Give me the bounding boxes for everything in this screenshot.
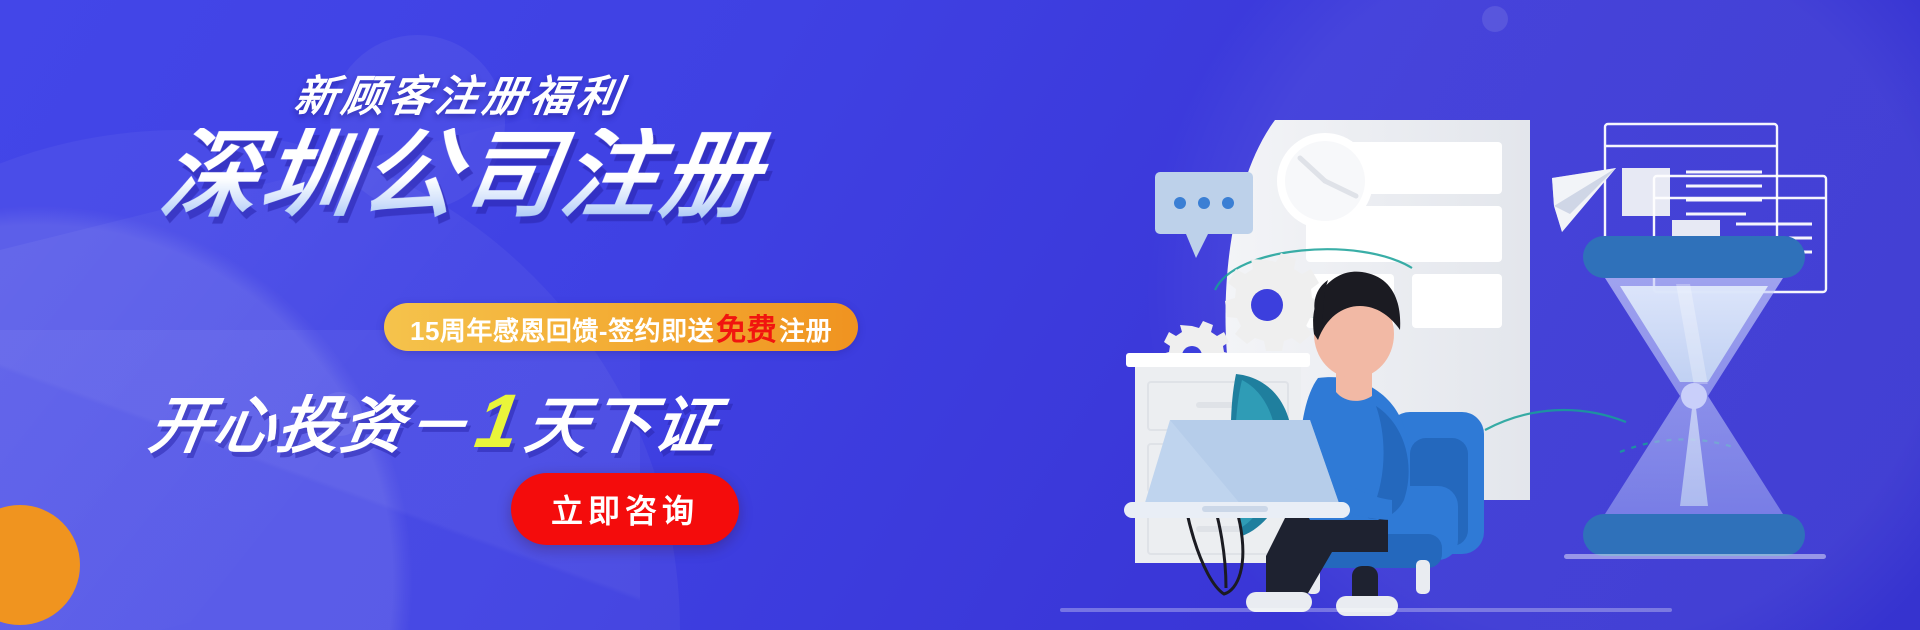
promo-pill-suffix: 注册: [779, 311, 832, 348]
consult-now-button[interactable]: 立即咨询: [511, 473, 739, 545]
wall-clock-icon: [1277, 133, 1373, 229]
floor-line: [1060, 608, 1672, 612]
promo-pill-accent: 免费: [714, 305, 779, 349]
promo-pill-prefix: 15周年感恩回馈-签约即送: [410, 311, 714, 348]
eyebrow-text: 新顾客注册福利: [0, 62, 925, 124]
paper-plane-icon: [1552, 168, 1616, 232]
promo-pill-text: 15周年感恩回馈-签约即送免费注册: [410, 305, 832, 349]
hourglass-icon: [1564, 236, 1826, 559]
tagline-after: 天下证: [521, 392, 724, 461]
promo-pill: 15周年感恩回馈-签约即送免费注册: [384, 303, 858, 351]
banner-copy: 新顾客注册福利 深圳公司注册 15周年感恩回馈-签约即送免费注册 开心投资－1天…: [0, 0, 1080, 630]
page-title: 深圳公司注册: [0, 128, 933, 224]
hero-illustration: [1060, 0, 1920, 630]
promo-banner: 新顾客注册福利 深圳公司注册 15周年感恩回馈-签约即送免费注册 开心投资－1天…: [0, 0, 1920, 630]
tagline: 开心投资－1天下证: [0, 375, 877, 465]
tagline-before: 开心投资－: [144, 392, 475, 461]
